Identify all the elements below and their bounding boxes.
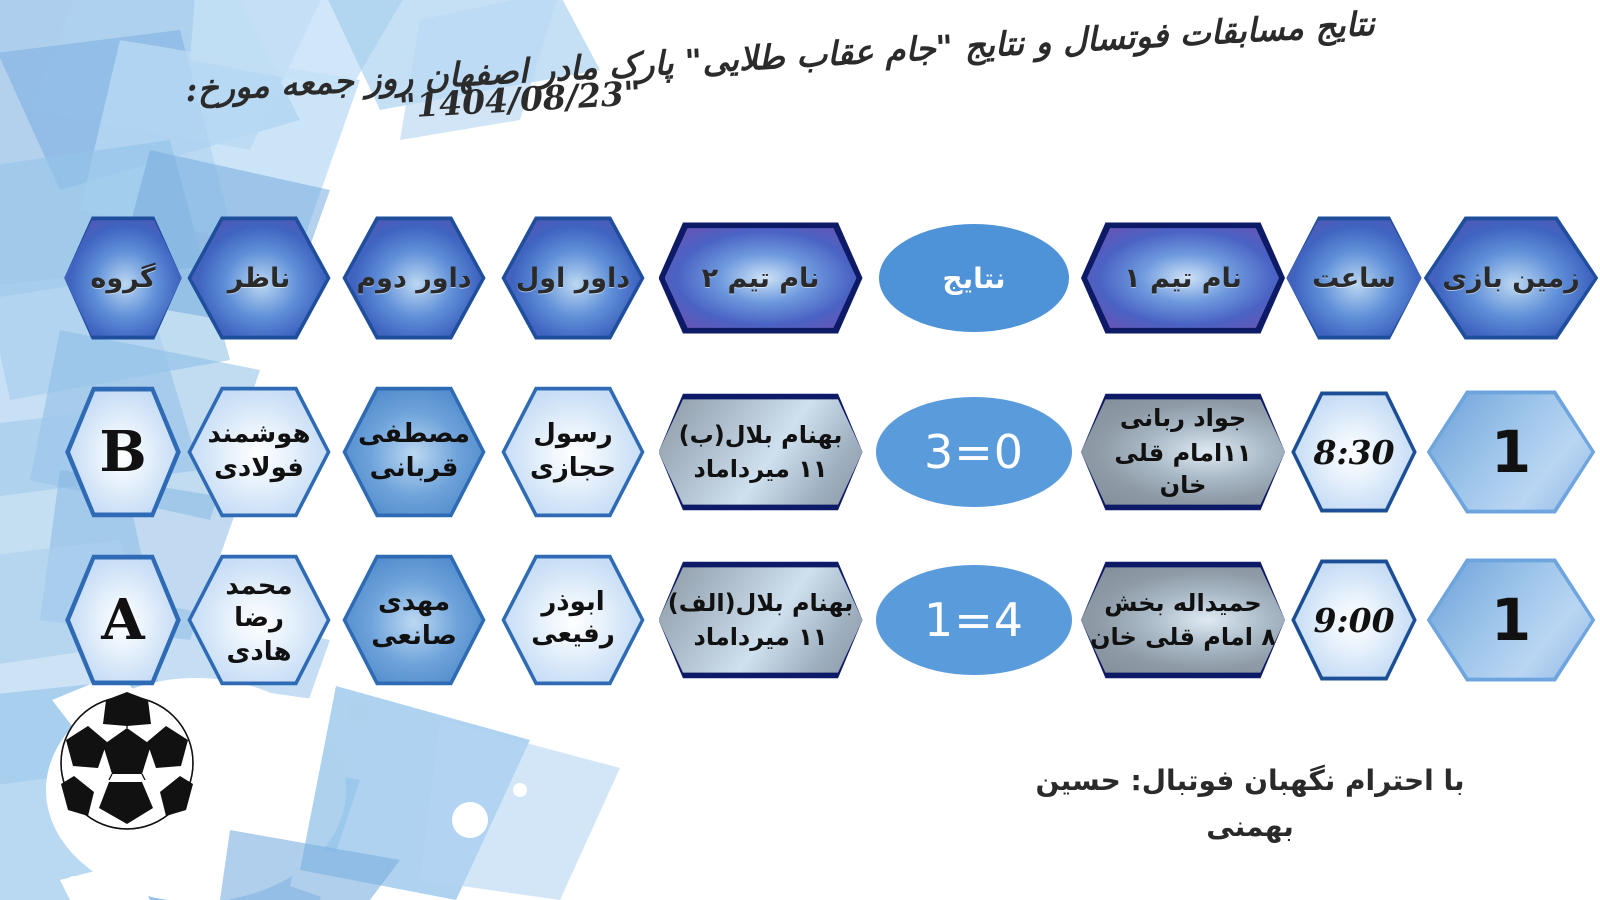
hexagon-wide-shape: جواد ربانی ۱۱امام قلی خان [1081, 390, 1285, 514]
team2-value-wrapper: بهنام بلال(الف) ۱۱ میرداماد [659, 564, 863, 676]
referee1-lastname: حجازی [530, 453, 616, 485]
poster-title: نتایج مسابقات فوتسال و نتایج "جام عقاب ط… [0, 36, 1560, 122]
cell-supervisor: محمد رضا هادی [183, 552, 335, 688]
hexagon-wide-shape: نام تیم ۲ [659, 219, 863, 337]
hexagon-shape: زمین بازی [1422, 214, 1600, 342]
team2-name: بهنام بلال(ب) [679, 419, 843, 451]
team2-detail: ۱۱ میرداماد [679, 453, 843, 485]
referee2-value-wrapper: مهدی صانعی [345, 556, 483, 684]
referee1-firstname: رسول [530, 419, 616, 451]
supervisor-lastname: فولادی [208, 453, 311, 485]
referee2-firstname: مهدی [371, 587, 457, 619]
cell-supervisor: هوشمند فولادی [183, 384, 335, 520]
team2-value-wrapper: بهنام بلال(ب) ۱۱ میرداماد [659, 396, 863, 508]
referee1-value-wrapper: رسول حجازی [504, 388, 642, 516]
header-team2-label: نام تیم ۲ [665, 225, 857, 331]
referee2-lastname: صانعی [371, 621, 457, 653]
header-team2: نام تیم ۲ [653, 219, 868, 337]
referee2-lastname: قربانی [358, 453, 470, 485]
hexagon-shape: 1 [1425, 388, 1597, 516]
cell-time: 8:30 [1286, 389, 1422, 515]
cell-team1: حمیداله بخش ۸ امام قلی خان [1080, 558, 1286, 682]
team1-name: حمیداله بخش [1090, 587, 1276, 619]
group-value-wrapper: A [69, 557, 177, 683]
hexagon-shape: A [64, 552, 182, 688]
time-value: 8:30 [1313, 433, 1394, 472]
hexagon-wide-shape: حمیداله بخش ۸ امام قلی خان [1081, 558, 1285, 682]
time-value-wrapper: 9:00 [1294, 561, 1414, 679]
field-value: 1 [1491, 586, 1531, 654]
group-value: B [99, 419, 146, 485]
time-value-wrapper: 8:30 [1294, 393, 1414, 511]
header-result-label: نتایج [879, 224, 1069, 332]
cell-team2: بهنام بلال(ب) ۱۱ میرداماد [653, 390, 868, 514]
group-value-wrapper: B [69, 389, 177, 515]
cell-result: 0=3 [868, 397, 1080, 507]
team1-value-wrapper: حمیداله بخش ۸ امام قلی خان [1081, 564, 1285, 676]
field-value: 1 [1491, 418, 1531, 486]
hexagon-wide-shape: بهنام بلال(الف) ۱۱ میرداماد [659, 558, 863, 682]
team2-name: بهنام بلال(الف) [668, 587, 853, 619]
table-row: 1 9:00 حمیداله بخش ۸ امام قلی خان [0, 545, 1600, 695]
group-value: A [101, 587, 144, 653]
table-row: 1 8:30 جواد ربانی ۱۱امام قلی خان [0, 377, 1600, 527]
header-team1: نام تیم ۱ [1080, 219, 1286, 337]
supervisor-value-wrapper: هوشمند فولادی [190, 388, 328, 516]
hexagon-shape: ناظر [186, 214, 332, 342]
cell-team2: بهنام بلال(الف) ۱۱ میرداماد [653, 558, 868, 682]
supervisor-value-wrapper: محمد رضا هادی [190, 556, 328, 684]
cell-time: 9:00 [1286, 557, 1422, 683]
referee1-value-wrapper: ابوذر رفیعی [504, 556, 642, 684]
header-supervisor: ناظر [183, 214, 335, 342]
header-referee1: داور اول [493, 214, 653, 342]
footer-credit: با احترام نگهبان فوتبال: حسین بهمنی [990, 758, 1510, 850]
hexagon-shape: محمد رضا هادی [186, 552, 332, 688]
header-group-label: گروه [63, 218, 183, 338]
cell-referee2: مصطفی قربانی [335, 384, 493, 520]
team2-detail: ۱۱ میرداماد [668, 621, 853, 653]
hexagon-shape: مهدی صانعی [341, 552, 487, 688]
cell-referee1: رسول حجازی [493, 384, 653, 520]
referee2-value-wrapper: مصطفی قربانی [345, 388, 483, 516]
cell-team1: جواد ربانی ۱۱امام قلی خان [1080, 390, 1286, 514]
supervisor-firstname: محمد رضا [196, 571, 322, 634]
referee2-firstname: مصطفی [358, 419, 470, 451]
header-referee2: داور دوم [335, 214, 493, 342]
cell-result: 4=1 [868, 565, 1080, 675]
result-value: 0=3 [876, 397, 1072, 507]
team1-value-wrapper: جواد ربانی ۱۱امام قلی خان [1081, 396, 1285, 508]
team1-detail: ۸ امام قلی خان [1090, 621, 1276, 653]
hexagon-wide-shape: نام تیم ۱ [1081, 219, 1285, 337]
supervisor-firstname: هوشمند [208, 419, 311, 451]
header-time: ساعت [1286, 214, 1422, 342]
poster-canvas: نتایج مسابقات فوتسال و نتایج "جام عقاب ط… [0, 0, 1600, 900]
team1-name: جواد ربانی [1089, 402, 1277, 434]
cell-referee1: ابوذر رفیعی [493, 552, 653, 688]
header-referee1-label: داور اول [504, 218, 642, 338]
hexagon-shape: داور دوم [341, 214, 487, 342]
hexagon-shape: هوشمند فولادی [186, 384, 332, 520]
time-value: 9:00 [1313, 601, 1394, 640]
header-supervisor-label: ناظر [190, 218, 328, 338]
hexagon-shape: ابوذر رفیعی [500, 552, 646, 688]
referee1-firstname: ابوذر رفیعی [510, 587, 636, 650]
supervisor-lastname: هادی [196, 637, 322, 669]
header-referee2-label: داور دوم [345, 218, 483, 338]
hexagon-shape: 9:00 [1290, 557, 1418, 683]
header-result: نتایج [868, 224, 1080, 332]
hexagon-wide-shape: بهنام بلال(ب) ۱۱ میرداماد [659, 390, 863, 514]
header-field: زمین بازی [1422, 214, 1600, 342]
cell-group: A [63, 552, 183, 688]
cell-field: 1 [1422, 388, 1600, 516]
soccer-ball-icon [52, 688, 202, 838]
shard-cluster-bottom [220, 686, 620, 900]
hexagon-shape: 1 [1425, 556, 1597, 684]
cell-group: B [63, 384, 183, 520]
field-value-wrapper: 1 [1429, 560, 1593, 680]
team1-detail: ۱۱امام قلی خان [1089, 437, 1277, 502]
header-time-label: ساعت [1285, 218, 1423, 338]
hexagon-shape: داور اول [500, 214, 646, 342]
cell-field: 1 [1422, 556, 1600, 684]
footer-line-1: با احترام نگهبان فوتبال: حسین [990, 758, 1510, 804]
hexagon-shape: گروه [63, 214, 183, 342]
hexagon-shape: رسول حجازی [500, 384, 646, 520]
field-value-wrapper: 1 [1429, 392, 1593, 512]
footer-line-2: بهمنی [990, 804, 1510, 850]
table-header-row: زمین بازی ساعت نام تیم ۱ نتایج نام تیم ۲… [0, 203, 1600, 353]
hexagon-shape: B [64, 384, 182, 520]
header-field-label: زمین بازی [1426, 218, 1596, 338]
header-team1-label: نام تیم ۱ [1087, 225, 1279, 331]
hexagon-shape: مصطفی قربانی [341, 384, 487, 520]
result-value: 4=1 [876, 565, 1072, 675]
hexagon-shape: ساعت [1285, 214, 1423, 342]
hexagon-shape: 8:30 [1290, 389, 1418, 515]
cell-referee2: مهدی صانعی [335, 552, 493, 688]
header-group: گروه [63, 214, 183, 342]
